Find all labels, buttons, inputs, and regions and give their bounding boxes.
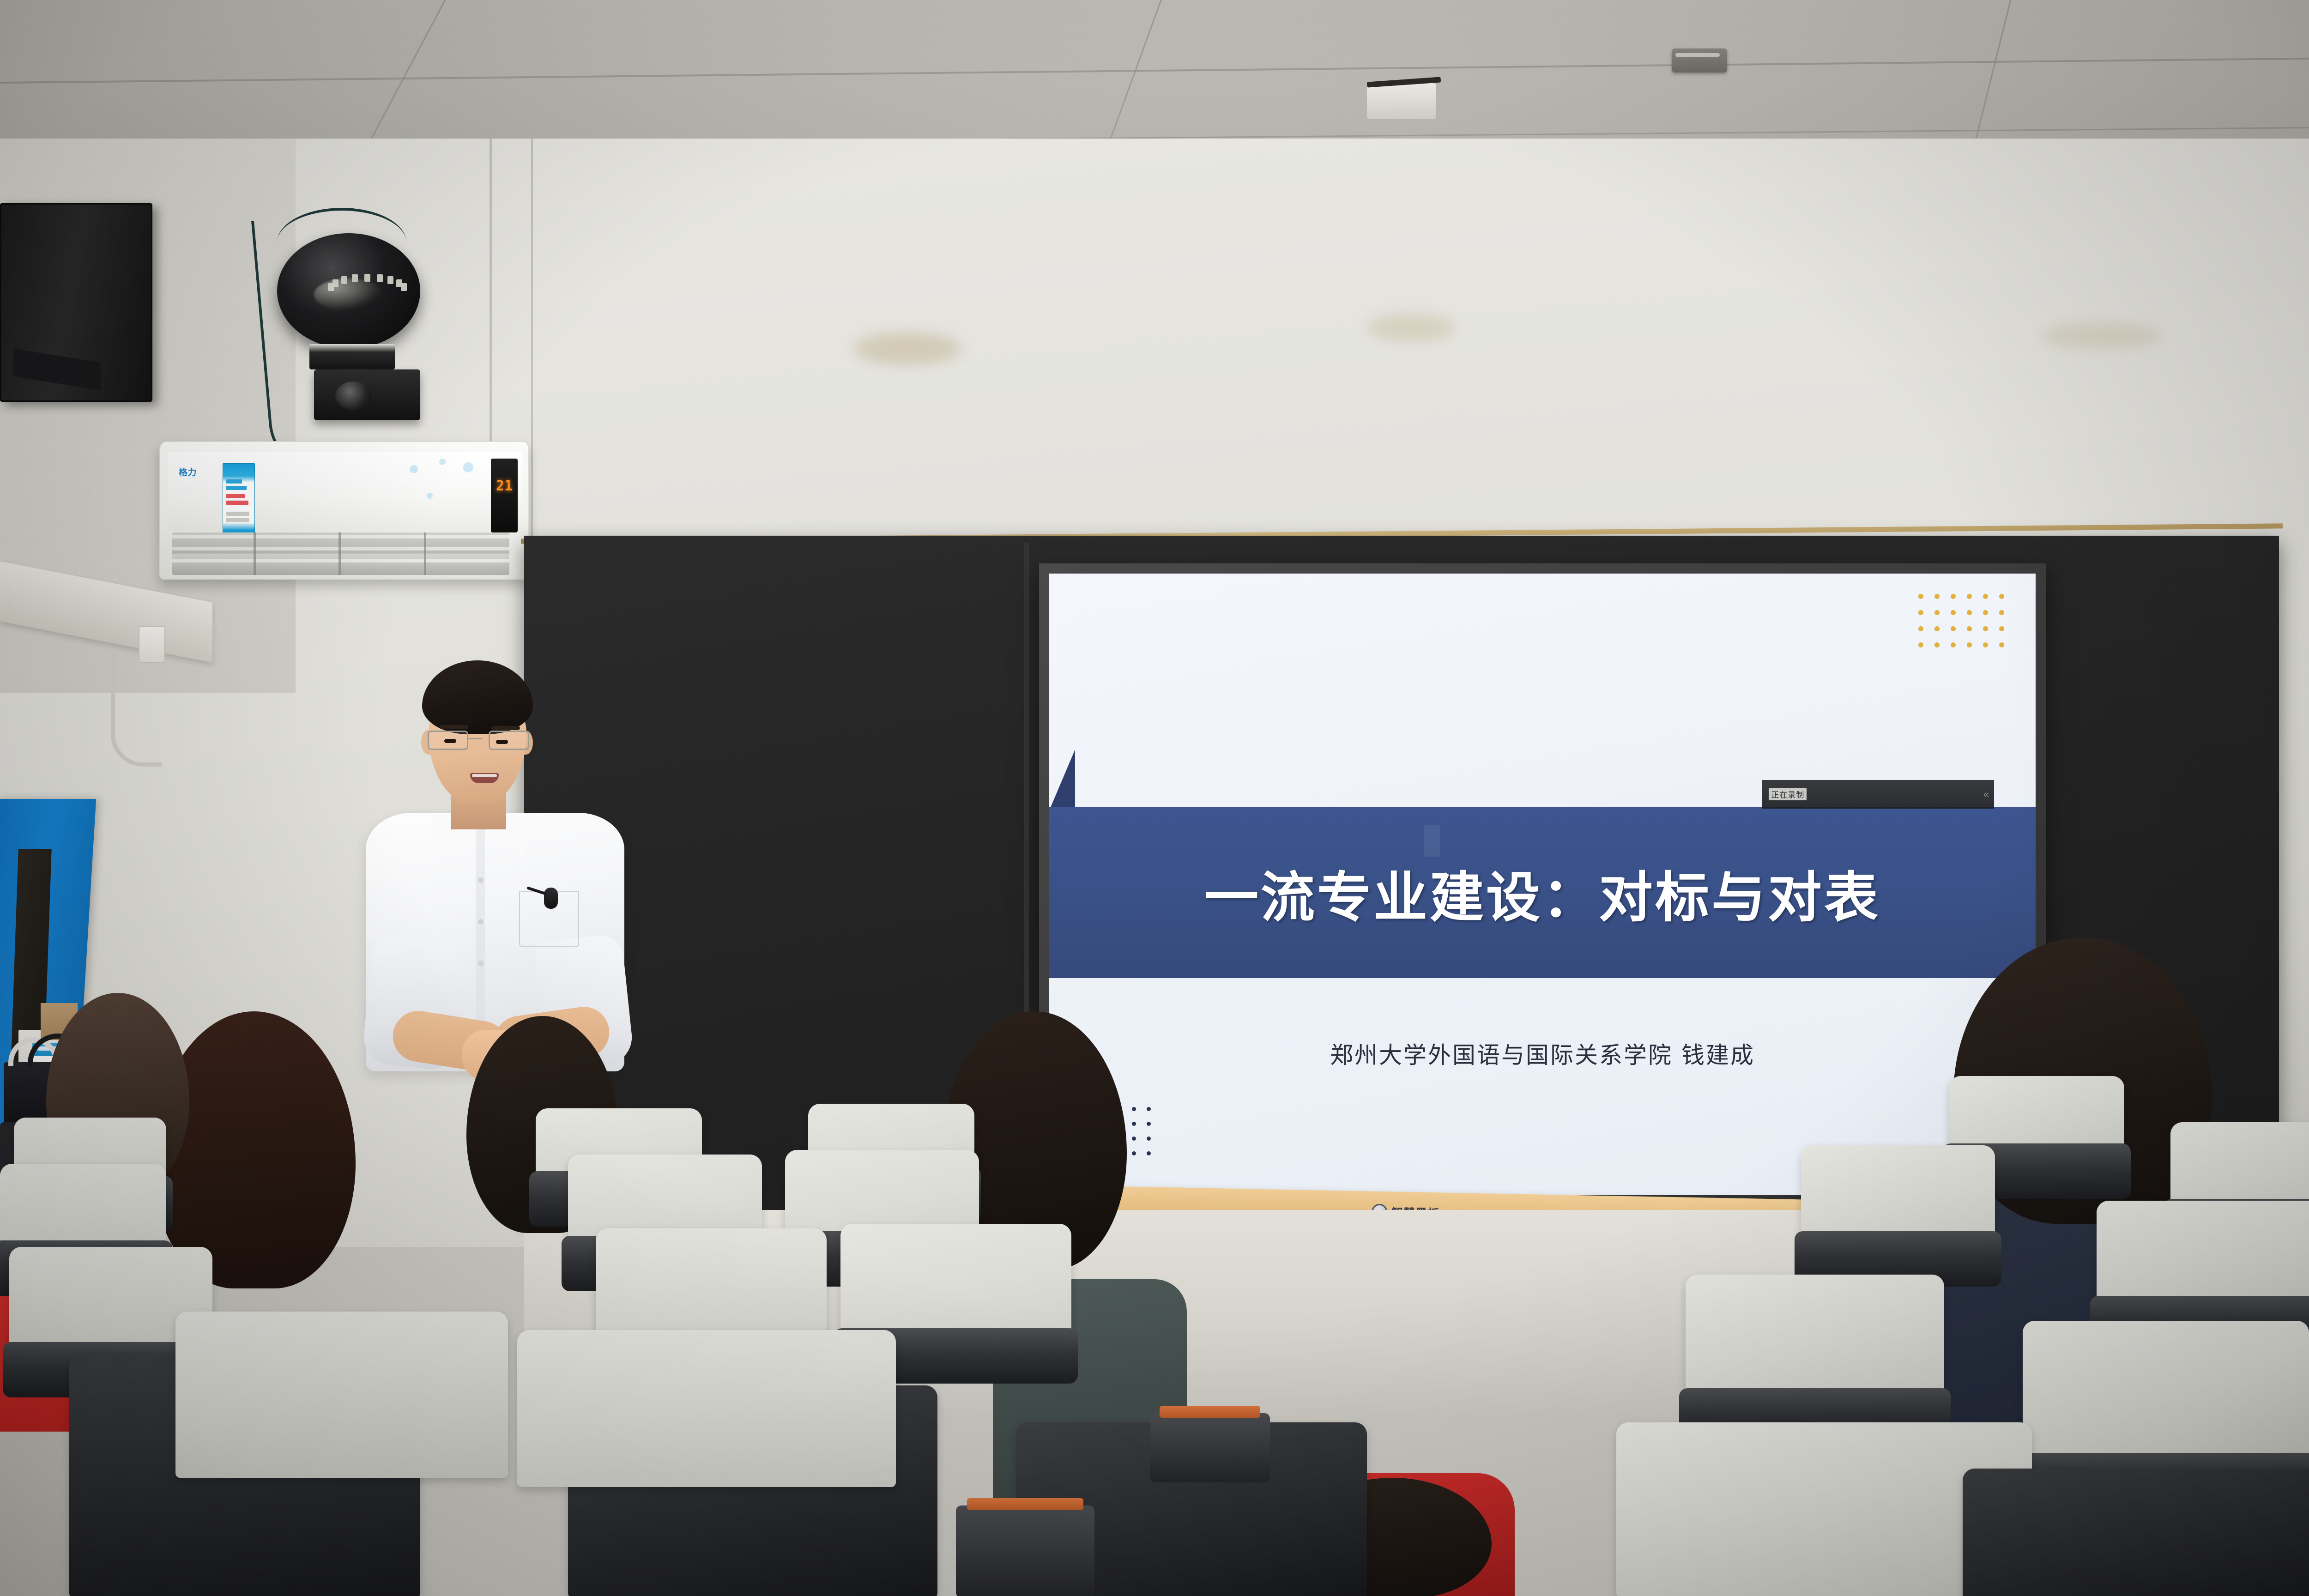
decor-dot	[1951, 626, 1956, 631]
shirt-button-icon	[478, 877, 484, 883]
decor-dot	[1967, 626, 1972, 631]
presenter	[323, 660, 656, 1076]
decor-dot	[1967, 594, 1972, 599]
camera-led-icon	[341, 276, 347, 284]
ac-temperature-value: 21	[491, 478, 518, 494]
camera-led-icon	[352, 274, 358, 282]
ac-air-vent	[172, 532, 509, 575]
decor-dot	[1999, 626, 2004, 631]
wall-seam	[531, 139, 533, 554]
presenter-eye	[496, 740, 508, 744]
decor-dot	[1951, 594, 1956, 599]
decor-dot	[1999, 610, 2004, 615]
ceiling-grid-line	[1973, 0, 2019, 150]
decor-dot	[1967, 610, 1972, 615]
ac-brand-label: 格力	[179, 467, 197, 478]
camera-led-icon	[387, 276, 393, 284]
seat-back[interactable]	[2097, 1201, 2309, 1339]
decor-dot	[1999, 642, 2004, 647]
camera-led-icon	[401, 283, 407, 291]
audio-wave-icon: «	[1983, 788, 1988, 800]
decor-dot	[1999, 594, 2004, 599]
seat-back[interactable]	[1686, 1275, 1944, 1432]
ceiling-sensor-icon	[1367, 83, 1436, 119]
wall-stain	[2041, 323, 2161, 349]
ceiling-grid-line	[360, 0, 454, 160]
triangle-accent-icon	[1049, 750, 1075, 810]
decor-dot	[1147, 1122, 1151, 1126]
cable-hook	[111, 651, 162, 767]
slide-subtitle: 郑州大学外国语与国际关系学院 钱建成	[1049, 1037, 2036, 1070]
decor-dot	[1918, 626, 1923, 631]
camera-led-icon	[364, 274, 370, 282]
lapel-microphone-icon	[544, 888, 558, 909]
ac-energy-label	[223, 463, 255, 542]
presenter-shirt-placket	[476, 827, 485, 1030]
decor-dot	[1983, 594, 1988, 599]
recording-status-label: 正在录制	[1769, 788, 1807, 800]
projector-lens-icon	[335, 381, 371, 410]
decor-dot	[1132, 1107, 1136, 1111]
presenter-eye	[444, 739, 456, 743]
armrest	[956, 1505, 1094, 1596]
ceiling-grid-line	[0, 57, 2309, 84]
decor-dot	[1934, 642, 1940, 647]
ac-snowflake-icon	[427, 493, 433, 499]
decor-dot	[1983, 610, 1988, 615]
ceiling	[0, 0, 2309, 152]
ac-display: 21	[491, 459, 518, 532]
decor-dot	[1934, 594, 1940, 599]
camera-led-icon	[377, 274, 383, 282]
seat-back[interactable]	[175, 1312, 508, 1478]
ac-snowflake-icon	[410, 465, 418, 473]
camera-mount	[309, 344, 395, 369]
armrest	[1150, 1413, 1270, 1482]
decor-dot	[1147, 1137, 1151, 1141]
decor-dot	[1951, 610, 1956, 615]
slide-title: 一流专业建设：对标与对表	[1049, 807, 2036, 978]
presenter-hair	[422, 660, 533, 734]
presentation-display[interactable]: 正在录制 « 一流专业建设：对标与对表 郑州大学外国语与国际关系学院 钱建成	[1039, 563, 2046, 1205]
presenter-eyebrow	[491, 726, 520, 730]
decor-dot	[1983, 626, 1988, 631]
decor-dot	[1132, 1151, 1136, 1155]
decor-dot	[1132, 1137, 1136, 1141]
decor-dot	[1967, 642, 1972, 647]
decor-dot	[1918, 642, 1923, 647]
slide-canvas: 正在录制 « 一流专业建设：对标与对表 郑州大学外国语与国际关系学院 钱建成	[1049, 574, 2036, 1195]
shirt-button-icon	[478, 961, 484, 966]
dome-camera-icon	[277, 233, 420, 349]
camera-led-icon	[328, 283, 334, 291]
presenter-mouth	[470, 773, 499, 783]
wall-stain	[854, 332, 961, 365]
recording-status-overlay[interactable]: 正在录制 «	[1762, 780, 1994, 809]
glasses-icon	[428, 731, 529, 752]
decor-dot	[1147, 1107, 1151, 1111]
seat-back-foreground[interactable]	[1963, 1469, 2309, 1596]
ac-snowflake-icon	[439, 459, 446, 465]
camera-led-ring	[325, 270, 404, 289]
decor-dot	[1983, 642, 1988, 647]
decor-dot	[1147, 1151, 1151, 1155]
presenter-eyebrow	[440, 725, 468, 729]
seat-back[interactable]	[517, 1330, 896, 1487]
projector-unit	[314, 369, 420, 420]
ceiling-light-fixture-icon	[1672, 48, 1727, 73]
armrest-wood-pad	[1160, 1406, 1260, 1418]
gold-dot-grid-decor	[1918, 594, 2006, 659]
decor-dot	[1918, 594, 1923, 599]
seat-back[interactable]	[1801, 1145, 1995, 1275]
air-conditioner: 格力 21	[159, 441, 529, 580]
decor-dot	[1934, 626, 1940, 631]
wall-stain	[1367, 314, 1455, 342]
decor-dot	[1918, 610, 1923, 615]
decor-dot	[1934, 610, 1940, 615]
lecture-hall-photo: 格力 21	[0, 0, 2309, 1596]
camera-led-icon	[332, 279, 338, 287]
armrest-wood-pad	[967, 1498, 1083, 1510]
shirt-button-icon	[478, 919, 484, 925]
decor-dot	[1132, 1122, 1136, 1126]
ac-snowflake-icon	[463, 462, 473, 472]
decor-dot	[1951, 642, 1956, 647]
